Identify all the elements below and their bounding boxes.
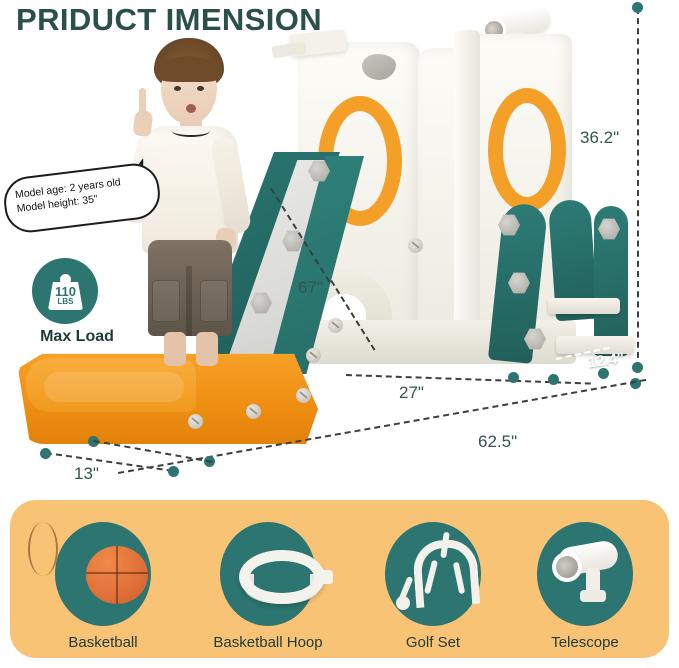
dimension-27: 27" — [399, 383, 424, 403]
dimension-dot — [632, 2, 643, 13]
dimension-line-height — [637, 8, 639, 368]
basketball-seam — [28, 522, 58, 576]
child-eye-left — [174, 86, 181, 91]
dimension-13: 13" — [74, 464, 99, 484]
child-leg-right — [196, 332, 218, 366]
telescope-foot — [580, 590, 606, 602]
model-info-text: Model age: 2 years old Model height: 35" — [14, 172, 150, 216]
dimension-dot — [548, 374, 559, 385]
feature-label: Golf Set — [358, 634, 508, 651]
dimension-line-width — [46, 452, 173, 472]
max-load-badge: 110 LBS Max Load — [22, 258, 132, 354]
product-photo: Model age: 2 years old Model height: 35"… — [0, 0, 679, 490]
hoop-ring — [239, 550, 325, 604]
golf-ball — [396, 596, 410, 610]
screw-icon — [296, 388, 311, 403]
feature-label: Basketball Hoop — [193, 634, 343, 651]
screw-icon — [246, 404, 261, 419]
stair-step-upper — [548, 298, 620, 314]
child-leg-left — [164, 332, 186, 366]
feature-golf-set[interactable]: Golf Set — [358, 522, 508, 658]
dimension-67: 67" — [298, 278, 323, 298]
climbing-stairs — [490, 200, 640, 365]
dimension-62-5: 62.5" — [478, 432, 517, 452]
orange-ring-right — [488, 88, 566, 212]
center-post — [454, 30, 480, 360]
dimension-dot — [168, 466, 179, 477]
child-collar — [172, 125, 210, 137]
screw-icon — [306, 348, 321, 363]
infographic-root: PRIDUCT IMENSION — [0, 0, 679, 668]
child-pointing-finger — [139, 88, 146, 116]
screw-icon — [188, 414, 203, 429]
feature-telescope[interactable]: Telescope — [510, 522, 660, 658]
screw-icon — [328, 318, 343, 333]
feature-basketball-hoop[interactable]: Basketball Hoop — [193, 522, 343, 658]
dimension-dot — [508, 372, 519, 383]
dimension-dot — [40, 448, 51, 459]
feature-label: Telescope — [510, 634, 660, 651]
slide-runout-inner — [44, 372, 184, 402]
child-eye-right — [197, 86, 204, 91]
dimension-36-2: 36.2" — [580, 128, 619, 148]
dimension-dot — [632, 362, 643, 373]
feature-circle — [537, 522, 633, 626]
child-mouth — [186, 104, 196, 113]
feature-basketball[interactable]: Basketball — [28, 522, 178, 658]
accessories-bar: Basketball Basketball Hoop Golf Set — [10, 500, 669, 658]
child-shorts-pocket — [152, 280, 180, 322]
weight-icon: 110 LBS — [48, 274, 83, 310]
feature-label: Basketball — [28, 634, 178, 651]
max-load-unit: LBS — [48, 298, 83, 306]
screw-icon — [408, 238, 423, 253]
child-shorts-pocket — [200, 280, 228, 322]
max-load-label: Max Load — [22, 328, 132, 346]
basketball-seam — [116, 546, 118, 604]
hoop-tab — [317, 570, 333, 584]
